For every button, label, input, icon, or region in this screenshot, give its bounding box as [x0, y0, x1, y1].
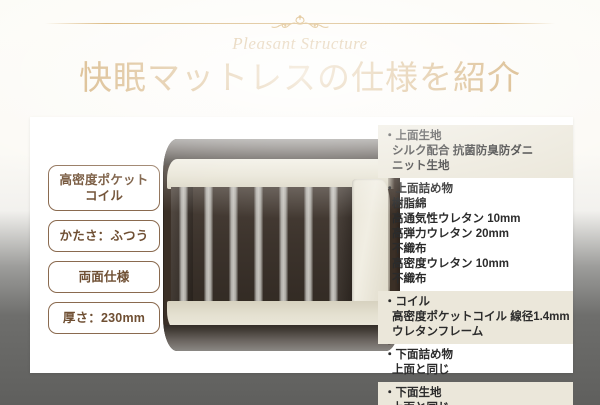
header-divider — [0, 12, 600, 34]
chip-line: 両面仕様 — [53, 269, 155, 285]
spec-line: ニット生地 — [384, 159, 573, 174]
spec-block-coil: ・コイル 高密度ポケットコイル 線径1.4mm ウレタンフレーム — [378, 291, 573, 344]
eyebrow-text: Pleasant Structure — [0, 34, 600, 54]
mattress-body — [163, 139, 400, 351]
spec-heading: ・上面詰め物 — [384, 182, 573, 197]
spec-block-bottom-filling: ・下面詰め物 上面と同じ — [378, 344, 573, 382]
spec-line: 高通気性ウレタン 10mm — [384, 212, 573, 227]
pocket-coil-layer — [171, 187, 354, 303]
spec-block-top-fabric: ・上面生地 シルク配合 抗菌防臭防ダニ ニット生地 — [378, 125, 573, 178]
specification-list: ・上面生地 シルク配合 抗菌防臭防ダニ ニット生地 ・上面詰め物 樹脂綿 高通気… — [378, 125, 573, 405]
spec-line: シルク配合 抗菌防臭防ダニ — [384, 144, 573, 159]
chip-line: コイル — [53, 188, 155, 204]
chip-line: 高密度ポケット — [53, 172, 155, 188]
spec-block-bottom-fabric: ・下面生地 上面と同じ — [378, 382, 573, 405]
cover-fabric-bottom — [163, 325, 400, 351]
spec-heading: ・上面生地 — [384, 129, 573, 144]
spec-heading: ・下面詰め物 — [384, 348, 573, 363]
spec-line: 高密度ウレタン 10mm — [384, 257, 573, 272]
chip-both-sides: 両面仕様 — [48, 261, 160, 293]
chip-thickness: 厚さ：230mm — [48, 302, 160, 334]
spec-line: 上面と同じ — [384, 363, 573, 378]
content-card: 高密度ポケット コイル かたさ：ふつう 両面仕様 厚さ：230mm ・上面生地 … — [30, 117, 573, 373]
spec-line: 高弾力ウレタン 20mm — [384, 227, 573, 242]
infographic-page: Pleasant Structure 快眠マットレスの仕様を紹介 — [0, 0, 600, 405]
feature-chip-list: 高密度ポケット コイル かたさ：ふつう 両面仕様 厚さ：230mm — [48, 165, 160, 343]
spec-heading: ・コイル — [384, 295, 573, 310]
spec-heading: ・下面生地 — [384, 386, 573, 401]
spec-block-top-filling: ・上面詰め物 樹脂綿 高通気性ウレタン 10mm 高弾力ウレタン 20mm 不織… — [378, 178, 573, 291]
spec-line: 不織布 — [384, 242, 573, 257]
flourish-ornament-icon — [255, 12, 345, 34]
chip-line: かたさ：ふつう — [53, 228, 155, 244]
mattress-cutaway-photo — [163, 125, 400, 365]
page-title: 快眠マットレスの仕様を紹介 — [0, 58, 600, 100]
spec-line: 不織布 — [384, 272, 573, 287]
spec-line: ウレタンフレーム — [384, 325, 573, 340]
chip-line: 厚さ：230mm — [53, 310, 155, 326]
chip-coil-type: 高密度ポケット コイル — [48, 165, 160, 211]
chip-firmness: かたさ：ふつう — [48, 220, 160, 252]
spec-line: 上面と同じ — [384, 401, 573, 405]
spec-line: 高密度ポケットコイル 線径1.4mm — [384, 310, 573, 325]
spec-line: 樹脂綿 — [384, 197, 573, 212]
